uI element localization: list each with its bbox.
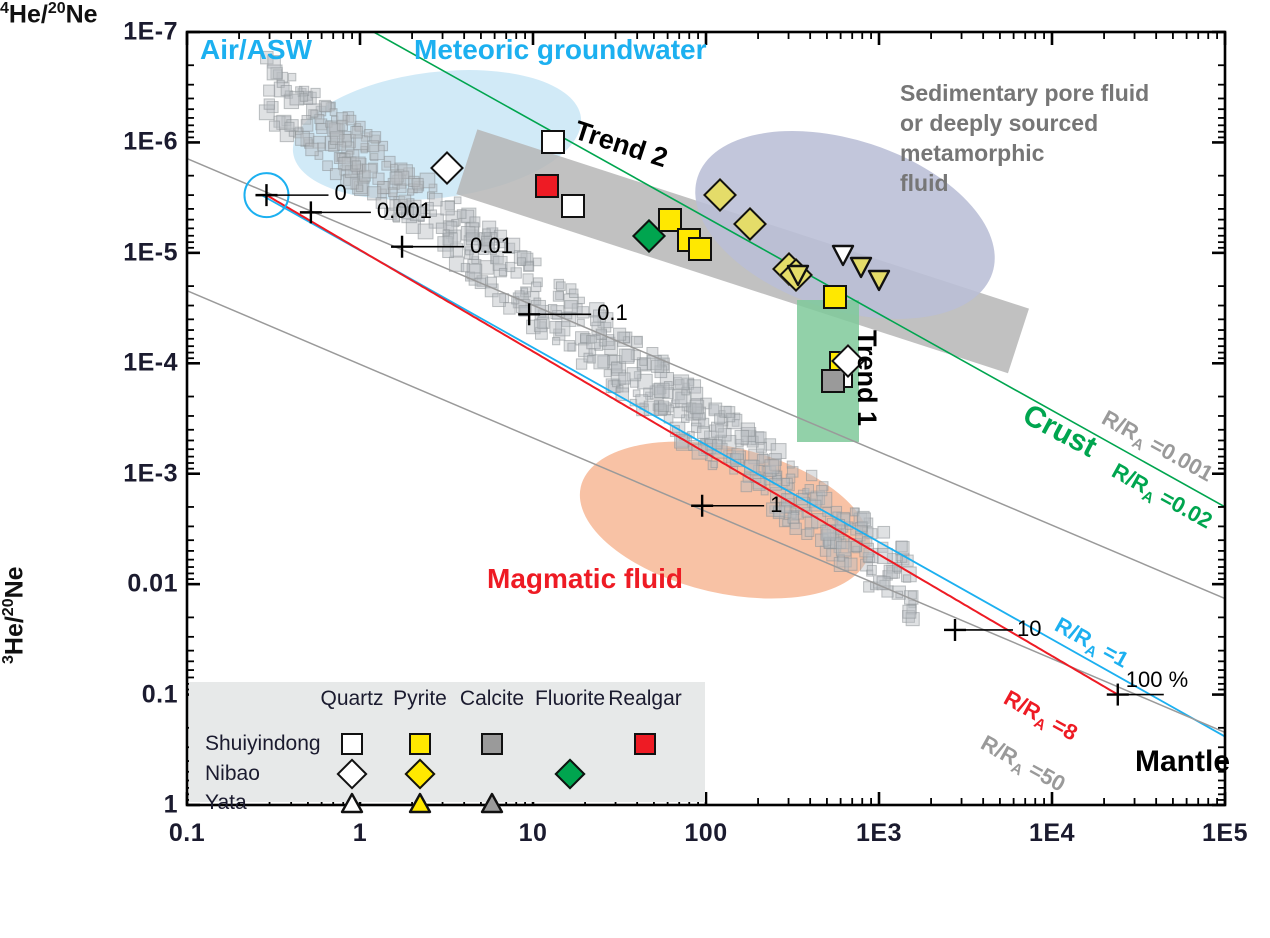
legend-marker-shuiyindong-pyrite [409, 733, 431, 755]
legend-column-header: Pyrite [393, 687, 447, 711]
mixing-label-1: 1 [770, 492, 782, 518]
data-point-square-open [541, 130, 565, 154]
legend-marker-shuiyindong-quartz [341, 733, 363, 755]
data-point-square-yellow [688, 237, 712, 261]
legend-column-header: Calcite [460, 687, 524, 711]
legend-marker-yata-quartz [339, 790, 365, 816]
x-tick-label: 0.1 [169, 819, 205, 848]
label-trend1: Trend 1 [851, 330, 882, 426]
x-tick-label: 100 [684, 819, 727, 848]
legend-marker-shuiyindong-realgar [634, 733, 656, 755]
figure-root: 0.11101001E31E41E51E-71E-61E-51E-41E-30.… [0, 0, 1270, 938]
x-tick-label: 10 [519, 819, 548, 848]
mixing-label-100: 100 % [1126, 667, 1188, 693]
legend-marker-yata-pyrite [407, 790, 433, 816]
axis-title-end: Ne [0, 567, 28, 599]
mixing-label-001: 0.01 [470, 233, 513, 259]
legend-marker-shuiyindong-calcite [481, 733, 503, 755]
label-air-asw: Air/ASW [200, 34, 312, 66]
mixing-label-0: 0 [334, 180, 346, 206]
label-mantle: Mantle [1135, 745, 1230, 779]
axis-title-mid: He/ [0, 617, 28, 656]
x-tick-label: 1E4 [1029, 819, 1075, 848]
legend-marker-yata-calcite [479, 790, 505, 816]
y-tick-label: 0.1 [0, 680, 192, 709]
data-point-triangle-yellow [866, 267, 892, 293]
data-point-square-red [535, 174, 559, 198]
data-point-square-yellow [823, 285, 847, 309]
label-sedimentary-l1: Sedimentary pore fluid [900, 80, 1149, 107]
x-tick-label: 1E5 [1202, 819, 1248, 848]
mixing-label-01: 0.1 [597, 300, 628, 326]
legend-column-header: Realgar [608, 687, 682, 711]
label-sedimentary-l2: or deeply sourced [900, 110, 1098, 137]
y-axis-title: 3He/20Ne [0, 0, 29, 664]
legend-row-label: Shuiyindong [205, 732, 321, 756]
axis-title-sup: 3 [0, 655, 17, 664]
y-tick-label: 1 [0, 791, 192, 820]
axis-title-sup: 20 [0, 599, 17, 617]
mixing-label-10: 10 [1017, 616, 1041, 642]
label-sedimentary-l4: fluid [900, 170, 949, 197]
label-meteoric: Meteoric groundwater [414, 34, 706, 66]
legend-column-header: Fluorite [535, 687, 605, 711]
label-magmatic: Magmatic fluid [487, 563, 683, 595]
legend-column-header: Quartz [320, 687, 383, 711]
data-point-square-open [561, 194, 585, 218]
data-point-triangle-yellow [785, 262, 811, 288]
label-sedimentary-l3: metamorphic [900, 140, 1044, 167]
mixing-label-0001: 0.001 [377, 198, 432, 224]
x-tick-label: 1E3 [856, 819, 902, 848]
x-tick-label: 1 [353, 819, 367, 848]
legend-row-label: Nibao [205, 762, 260, 786]
legend-row-label: Yata [205, 791, 247, 815]
